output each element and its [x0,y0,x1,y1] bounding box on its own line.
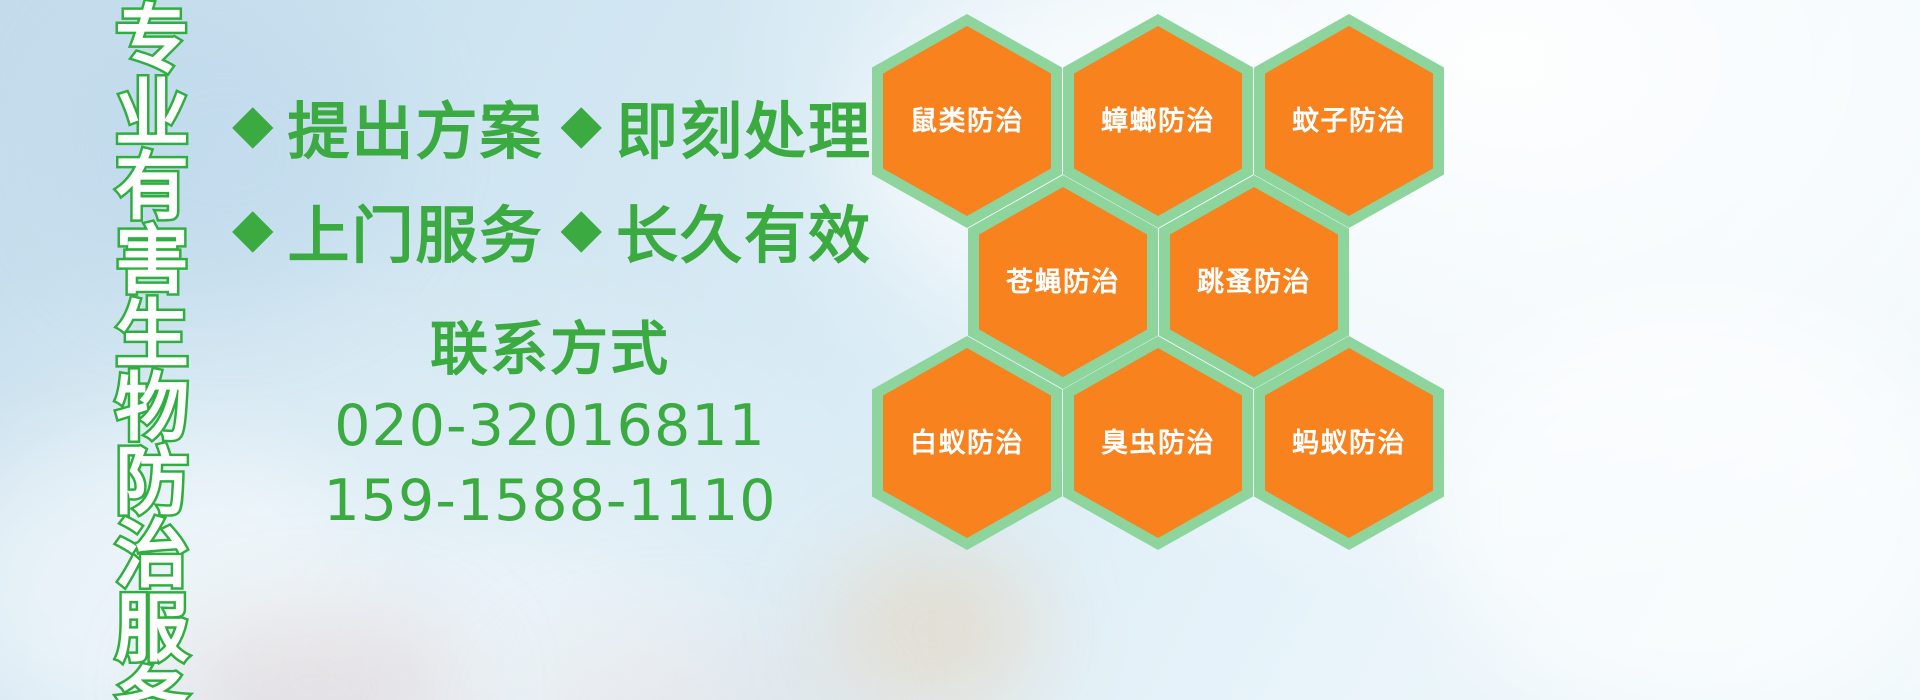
diamond-bullet-icon: ◆ [560,97,604,151]
diamond-bullet-icon: ◆ [232,97,276,151]
service-hexagon-fill: 蟑螂防治 [1074,26,1242,216]
service-hexagon-label: 鼠类防治 [910,108,1024,135]
slogan-row: ◆提出方案◆即刻处理 [232,74,872,178]
service-hexagon-label: 苍蝇防治 [1006,269,1120,296]
background-blob [300,540,720,700]
service-hexagon-fill: 鼠类防治 [883,26,1051,216]
phone-number-primary[interactable]: 020-32016811 [300,389,800,464]
vertical-title-char: 物 [115,372,189,446]
vertical-title-char: 业 [115,78,189,152]
vertical-title-char: 专 [115,4,189,78]
service-hexagon-label: 蚂蚁防治 [1292,430,1406,457]
background-blob [520,630,860,700]
service-hexagon-fill: 臭虫防治 [1074,348,1242,538]
slogan-phrase: 长久有效 [616,185,872,275]
service-honeycomb: 鼠类防治蟑螂防治蚊子防治苍蝇防治跳蚤防治白蚁防治臭虫防治蚂蚁防治 [860,0,1480,700]
contact-block: 联系方式 020-32016811 159-1588-1110 [300,318,800,539]
service-hexagon-label: 蚊子防治 [1292,108,1406,135]
vertical-title-char: 治 [115,519,189,593]
slogan-list: ◆提出方案◆即刻处理◆上门服务◆长久有效 [232,74,872,282]
contact-title: 联系方式 [300,318,800,381]
service-hexagon-label: 臭虫防治 [1101,430,1215,457]
slogan-phrase: 提出方案 [288,81,544,171]
service-hexagon-label: 白蚁防治 [910,430,1024,457]
vertical-title: 专业有害生物防治服务 [104,4,200,700]
service-hexagon-fill: 跳蚤防治 [1170,187,1338,377]
slogan-phrase: 上门服务 [288,185,544,275]
service-hexagon-fill: 蚂蚁防治 [1265,348,1433,538]
vertical-title-char: 服 [115,593,189,667]
background-blob [170,612,470,700]
slogan-phrase: 即刻处理 [616,81,872,171]
service-hexagon-fill: 苍蝇防治 [979,187,1147,377]
vertical-title-char: 生 [115,299,189,373]
background-blob [1430,300,1920,700]
vertical-title-char: 害 [115,225,189,299]
service-hexagon-label: 跳蚤防治 [1197,269,1311,296]
service-hexagon-fill: 白蚁防治 [883,348,1051,538]
diamond-bullet-icon: ◆ [232,201,276,255]
service-hexagon-fill: 蚊子防治 [1265,26,1433,216]
vertical-title-char: 务 [115,667,189,700]
service-hexagon-label: 蟑螂防治 [1101,108,1215,135]
diamond-bullet-icon: ◆ [560,201,604,255]
promo-banner: 专业有害生物防治服务 ◆提出方案◆即刻处理◆上门服务◆长久有效 联系方式 020… [0,0,1920,700]
vertical-title-char: 防 [115,446,189,520]
phone-number-secondary[interactable]: 159-1588-1110 [300,464,800,539]
vertical-title-char: 有 [115,151,189,225]
slogan-row: ◆上门服务◆长久有效 [232,178,872,282]
